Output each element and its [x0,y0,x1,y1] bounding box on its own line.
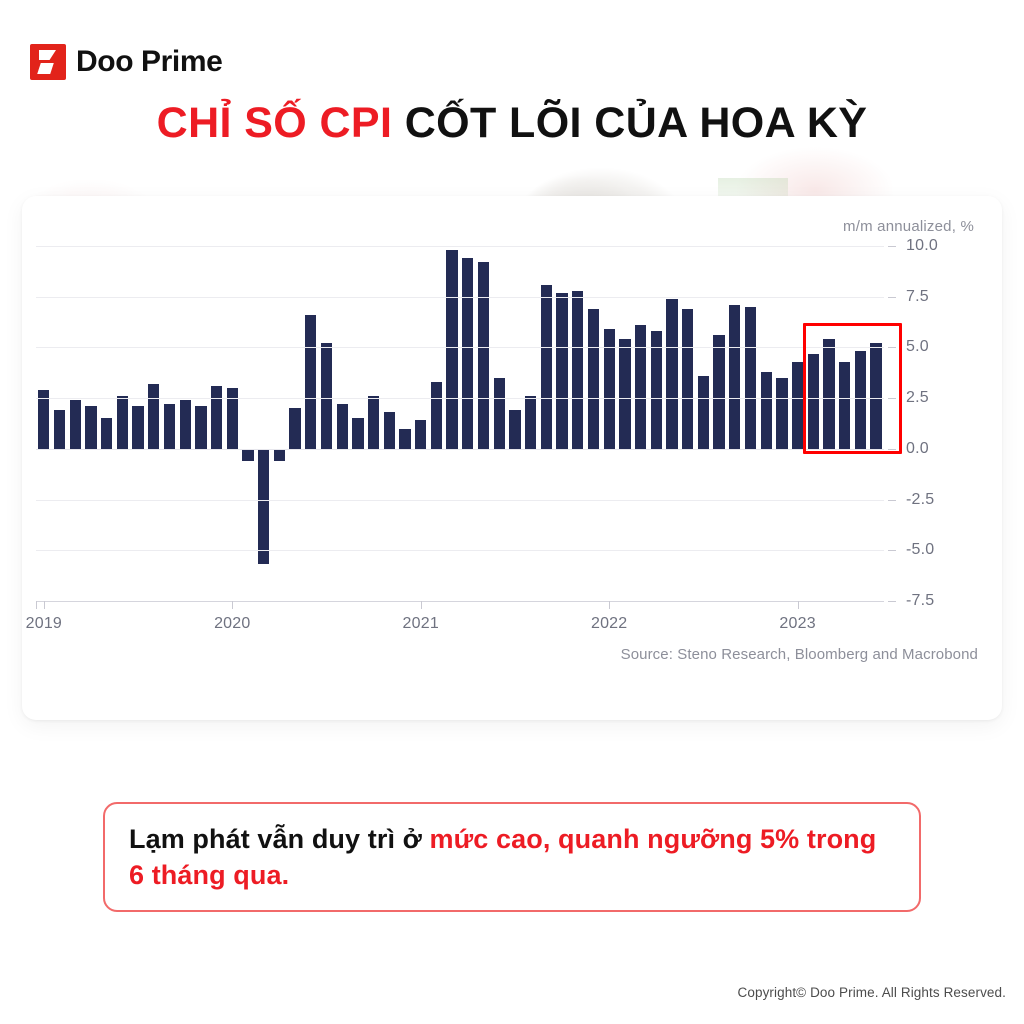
bar [384,412,395,449]
bar [588,309,599,449]
bar [761,372,772,449]
x-tick-label: 2020 [214,615,250,633]
bar [619,339,630,449]
x-tick-mark [421,601,422,609]
brand-name: Doo Prime [76,45,222,79]
bar [635,325,646,449]
bar [415,420,426,448]
x-tick-label: 2022 [591,615,627,633]
bar [745,307,756,449]
bar [446,250,457,449]
y-tick-label: -7.5 [906,592,934,610]
bar [242,449,253,461]
bar [337,404,348,449]
bar [541,285,552,449]
caption-box: Lạm phát vẫn duy trì ở mức cao, quanh ng… [103,802,921,912]
bar [509,410,520,449]
gridline [36,449,884,450]
y-tick-mark [888,500,896,501]
bar [227,388,238,449]
bar [85,406,96,449]
bar [399,429,410,449]
bar [352,418,363,448]
bar [195,406,206,449]
y-tick-label: 10.0 [906,237,938,255]
bar [321,343,332,448]
doo-prime-logo-icon [30,44,66,80]
x-tick-mark [36,601,37,609]
bar [148,384,159,449]
bar [289,408,300,449]
bar [70,400,81,449]
bar [258,449,269,565]
chart-area: m/m annualized, % 10.07.55.02.50.0-2.5-5… [22,196,1002,720]
x-axis-line [36,601,884,602]
y-tick-label: -2.5 [906,491,934,509]
gridline [36,550,884,551]
bar [713,335,724,449]
bar [651,331,662,449]
bar [462,258,473,449]
bar [431,382,442,449]
caption-lead: Lạm phát vẫn duy trì ở [129,824,430,854]
y-tick-label: 2.5 [906,389,929,407]
bar [211,386,222,449]
bar [101,418,112,448]
footer-copyright: Copyright© Doo Prime. All Rights Reserve… [738,985,1007,1000]
chart-card: m/m annualized, % 10.07.55.02.50.0-2.5-5… [22,196,1002,720]
bar [792,362,803,449]
x-tick-label: 2019 [26,615,62,633]
page-title: CHỈ SỐ CPI CỐT LÕI CỦA HOA KỲ [0,98,1024,149]
bar [180,400,191,449]
gridline [36,246,884,247]
bar [525,396,536,449]
gridline [36,500,884,501]
caption-text: Lạm phát vẫn duy trì ở mức cao, quanh ng… [129,822,895,893]
page-title-rest: CỐT LÕI CỦA HOA KỲ [392,99,867,147]
gridline [36,347,884,348]
bar [274,449,285,461]
y-tick-label: 7.5 [906,288,929,306]
bar [478,262,489,449]
gridline [36,297,884,298]
bar [556,293,567,449]
bar [117,396,128,449]
y-axis-title: m/m annualized, % [843,218,974,235]
x-tick-mark [232,601,233,609]
bar [776,378,787,449]
x-tick-mark [44,601,45,609]
y-tick-label: 5.0 [906,338,929,356]
x-tick-label: 2023 [779,615,815,633]
x-tick-label: 2021 [403,615,439,633]
y-tick-mark [888,550,896,551]
bar [666,299,677,449]
y-tick-mark [888,601,896,602]
y-tick-mark [888,297,896,298]
bar [164,404,175,449]
bar [54,410,65,449]
bar [132,406,143,449]
chart-source: Source: Steno Research, Bloomberg and Ma… [621,646,978,663]
bar [494,378,505,449]
bar-series [36,246,884,601]
bar [572,291,583,449]
page-title-highlight: CHỈ SỐ CPI [157,99,393,147]
bar [305,315,316,449]
x-tick-mark [609,601,610,609]
bar [682,309,693,449]
gridline [36,398,884,399]
infographic-root: Doo Prime CHỈ SỐ CPI CỐT LÕI CỦA HOA KỲ … [0,0,1024,1024]
y-tick-label: 0.0 [906,440,929,458]
brand-logo: Doo Prime [30,44,222,80]
highlight-rectangle [803,323,903,454]
y-tick-mark [888,246,896,247]
plot-region [36,246,884,601]
bar [729,305,740,449]
x-tick-mark [798,601,799,609]
bar [368,396,379,449]
y-tick-label: -5.0 [906,541,934,559]
bar [698,376,709,449]
